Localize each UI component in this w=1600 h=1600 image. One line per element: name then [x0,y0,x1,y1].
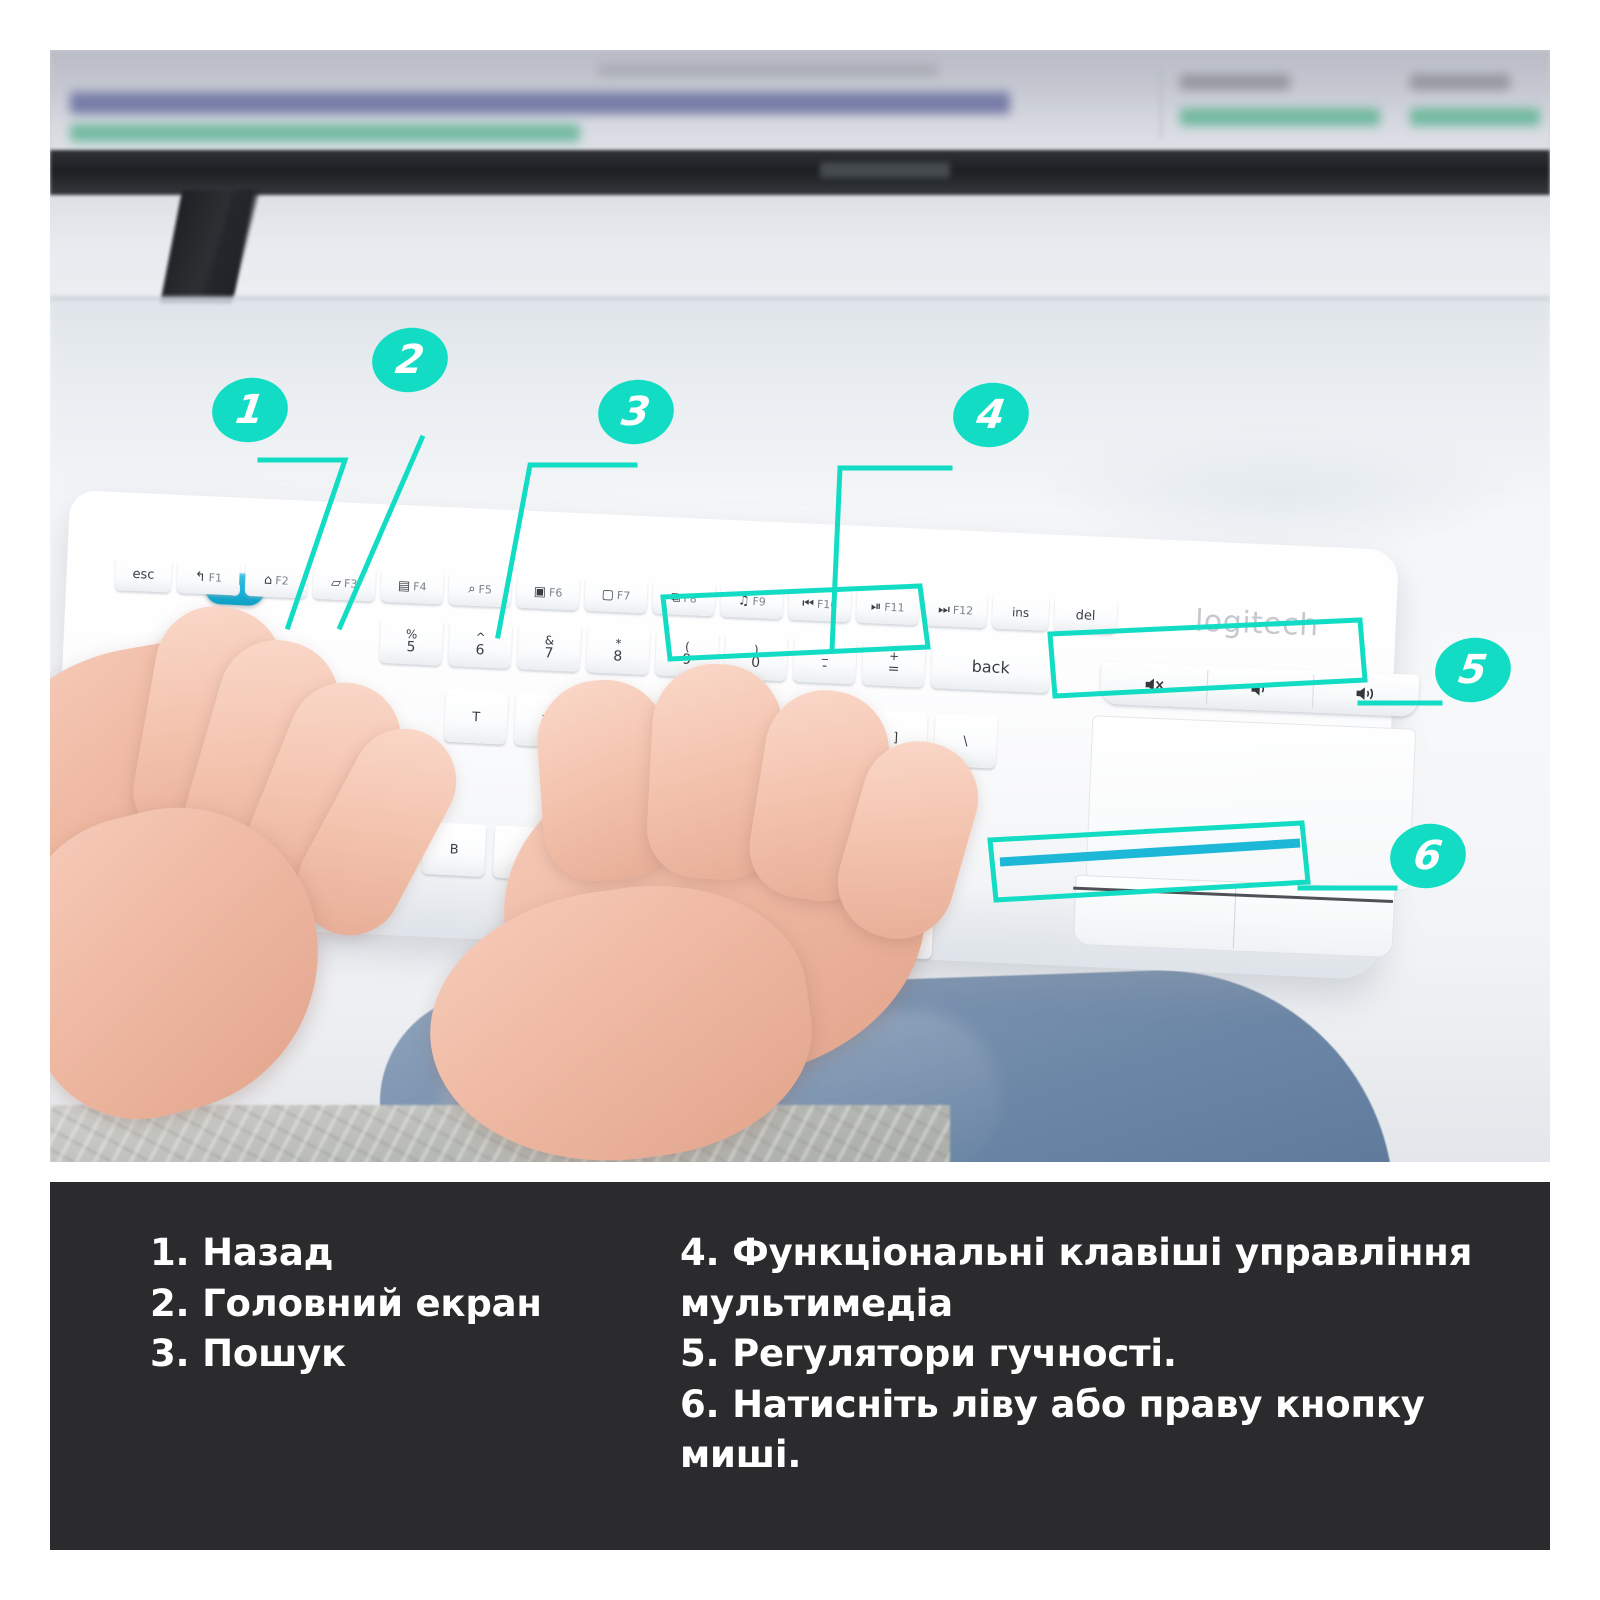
monitor-panel-label-2 [1410,74,1510,90]
volume-high-icon [1353,684,1378,703]
key-f5-search[interactable]: ⌕F5 [448,571,511,608]
page-root: logitech esc ↰F1 ⌂F2 ▱F3 ▤F4 ⌕F5 ▣F6 [0,0,1600,1600]
key-6[interactable]: ^ 6 [448,620,512,669]
previous-track-icon: ⏮ [802,597,814,610]
screen-icon: ▣ [533,585,546,599]
key-f2-home[interactable]: ⌂F2 [245,562,308,599]
volume-up-button[interactable] [1312,671,1420,717]
monitor-panel-value-2 [1410,108,1540,126]
monitor-text-line-1 [70,92,1010,114]
monitor-bezel-notch [820,162,950,178]
apps-icon: ▱ [331,576,342,589]
caption-item-4: 4. Функціональні клавіші управління [680,1230,1520,1277]
caption-item-6: 6. Натисніть ліву або праву кнопку [680,1382,1520,1429]
key-minus[interactable]: _ - [793,636,857,685]
caption-column-right: 4. Функціональні клавіші управління муль… [670,1182,1520,1550]
share-icon: ⧉ [671,591,681,604]
mouse-button-bar [1073,875,1396,958]
key-ins[interactable]: ins [992,594,1049,630]
camera-icon: ▢ [601,588,614,602]
home-icon: ⌂ [264,573,273,586]
key-8[interactable]: * 8 [586,626,650,675]
key-esc[interactable]: esc [115,556,172,592]
key-f8-share[interactable]: ⧉F8 [652,580,715,617]
music-note-icon: ♫ [738,594,750,607]
next-track-icon: ⏭ [938,603,950,616]
monitor-bezel [50,150,1550,195]
key-t[interactable]: T [444,690,508,745]
key-5[interactable]: % 5 [379,617,443,666]
key-f9-music[interactable]: ♫F9 [720,583,783,620]
logitech-logo: logitech [1194,604,1319,644]
key-f10-previous[interactable]: ⏮F10 [788,586,851,623]
volume-button-strip [1100,662,1419,717]
caption-item-1: 1. Назад [150,1230,670,1277]
key-backspace[interactable]: back [931,642,1051,693]
monitor-text-faint [598,64,938,76]
touchpad-surface[interactable] [1086,715,1416,890]
product-photo: logitech esc ↰F1 ⌂F2 ▱F3 ▤F4 ⌕F5 ▣F6 [50,50,1550,1162]
key-f6-screen[interactable]: ▣F6 [516,574,579,611]
volume-mute-button[interactable] [1100,662,1208,708]
monitor-divider [1160,68,1162,138]
back-arrow-icon: ↰ [194,570,205,583]
caption-item-3: 3. Пошук [150,1331,670,1378]
volume-down-button[interactable] [1206,666,1314,712]
menu-icon: ▤ [398,579,411,593]
monitor-panel-value-1 [1180,108,1380,126]
key-f12-next[interactable]: ⏭F12 [924,591,987,628]
caption-panel: 1. Назад 2. Головний екран 3. Пошук 4. Ф… [50,1182,1550,1550]
monitor-panel-label-1 [1180,74,1290,90]
key-7[interactable]: & 7 [517,623,581,672]
key-f1-back[interactable]: ↰F1 [177,559,240,596]
key-del[interactable]: del [1054,597,1117,634]
key-f11-play-pause[interactable]: ⏯F11 [856,589,919,626]
key-plus[interactable]: + = [862,639,926,688]
caption-item-2: 2. Головний екран [150,1281,670,1328]
caption-item-5: 5. Регулятори гучності. [680,1331,1520,1378]
search-icon: ⌕ [468,582,476,595]
touchpad-zone [1053,652,1446,998]
key-f3-apps[interactable]: ▱F3 [313,565,376,602]
caption-item-4-cont: мультимедіа [680,1281,1520,1328]
key-f4-menu[interactable]: ▤F4 [380,568,443,605]
play-pause-icon: ⏯ [871,600,882,613]
key-f7-camera[interactable]: ▢F7 [584,577,647,614]
monitor-text-line-2 [70,124,580,142]
volume-low-icon [1248,680,1271,699]
volume-mute-icon [1142,675,1165,694]
caption-column-left: 1. Назад 2. Головний екран 3. Пошук [50,1182,670,1550]
caption-item-6-cont: миші. [680,1432,1520,1479]
